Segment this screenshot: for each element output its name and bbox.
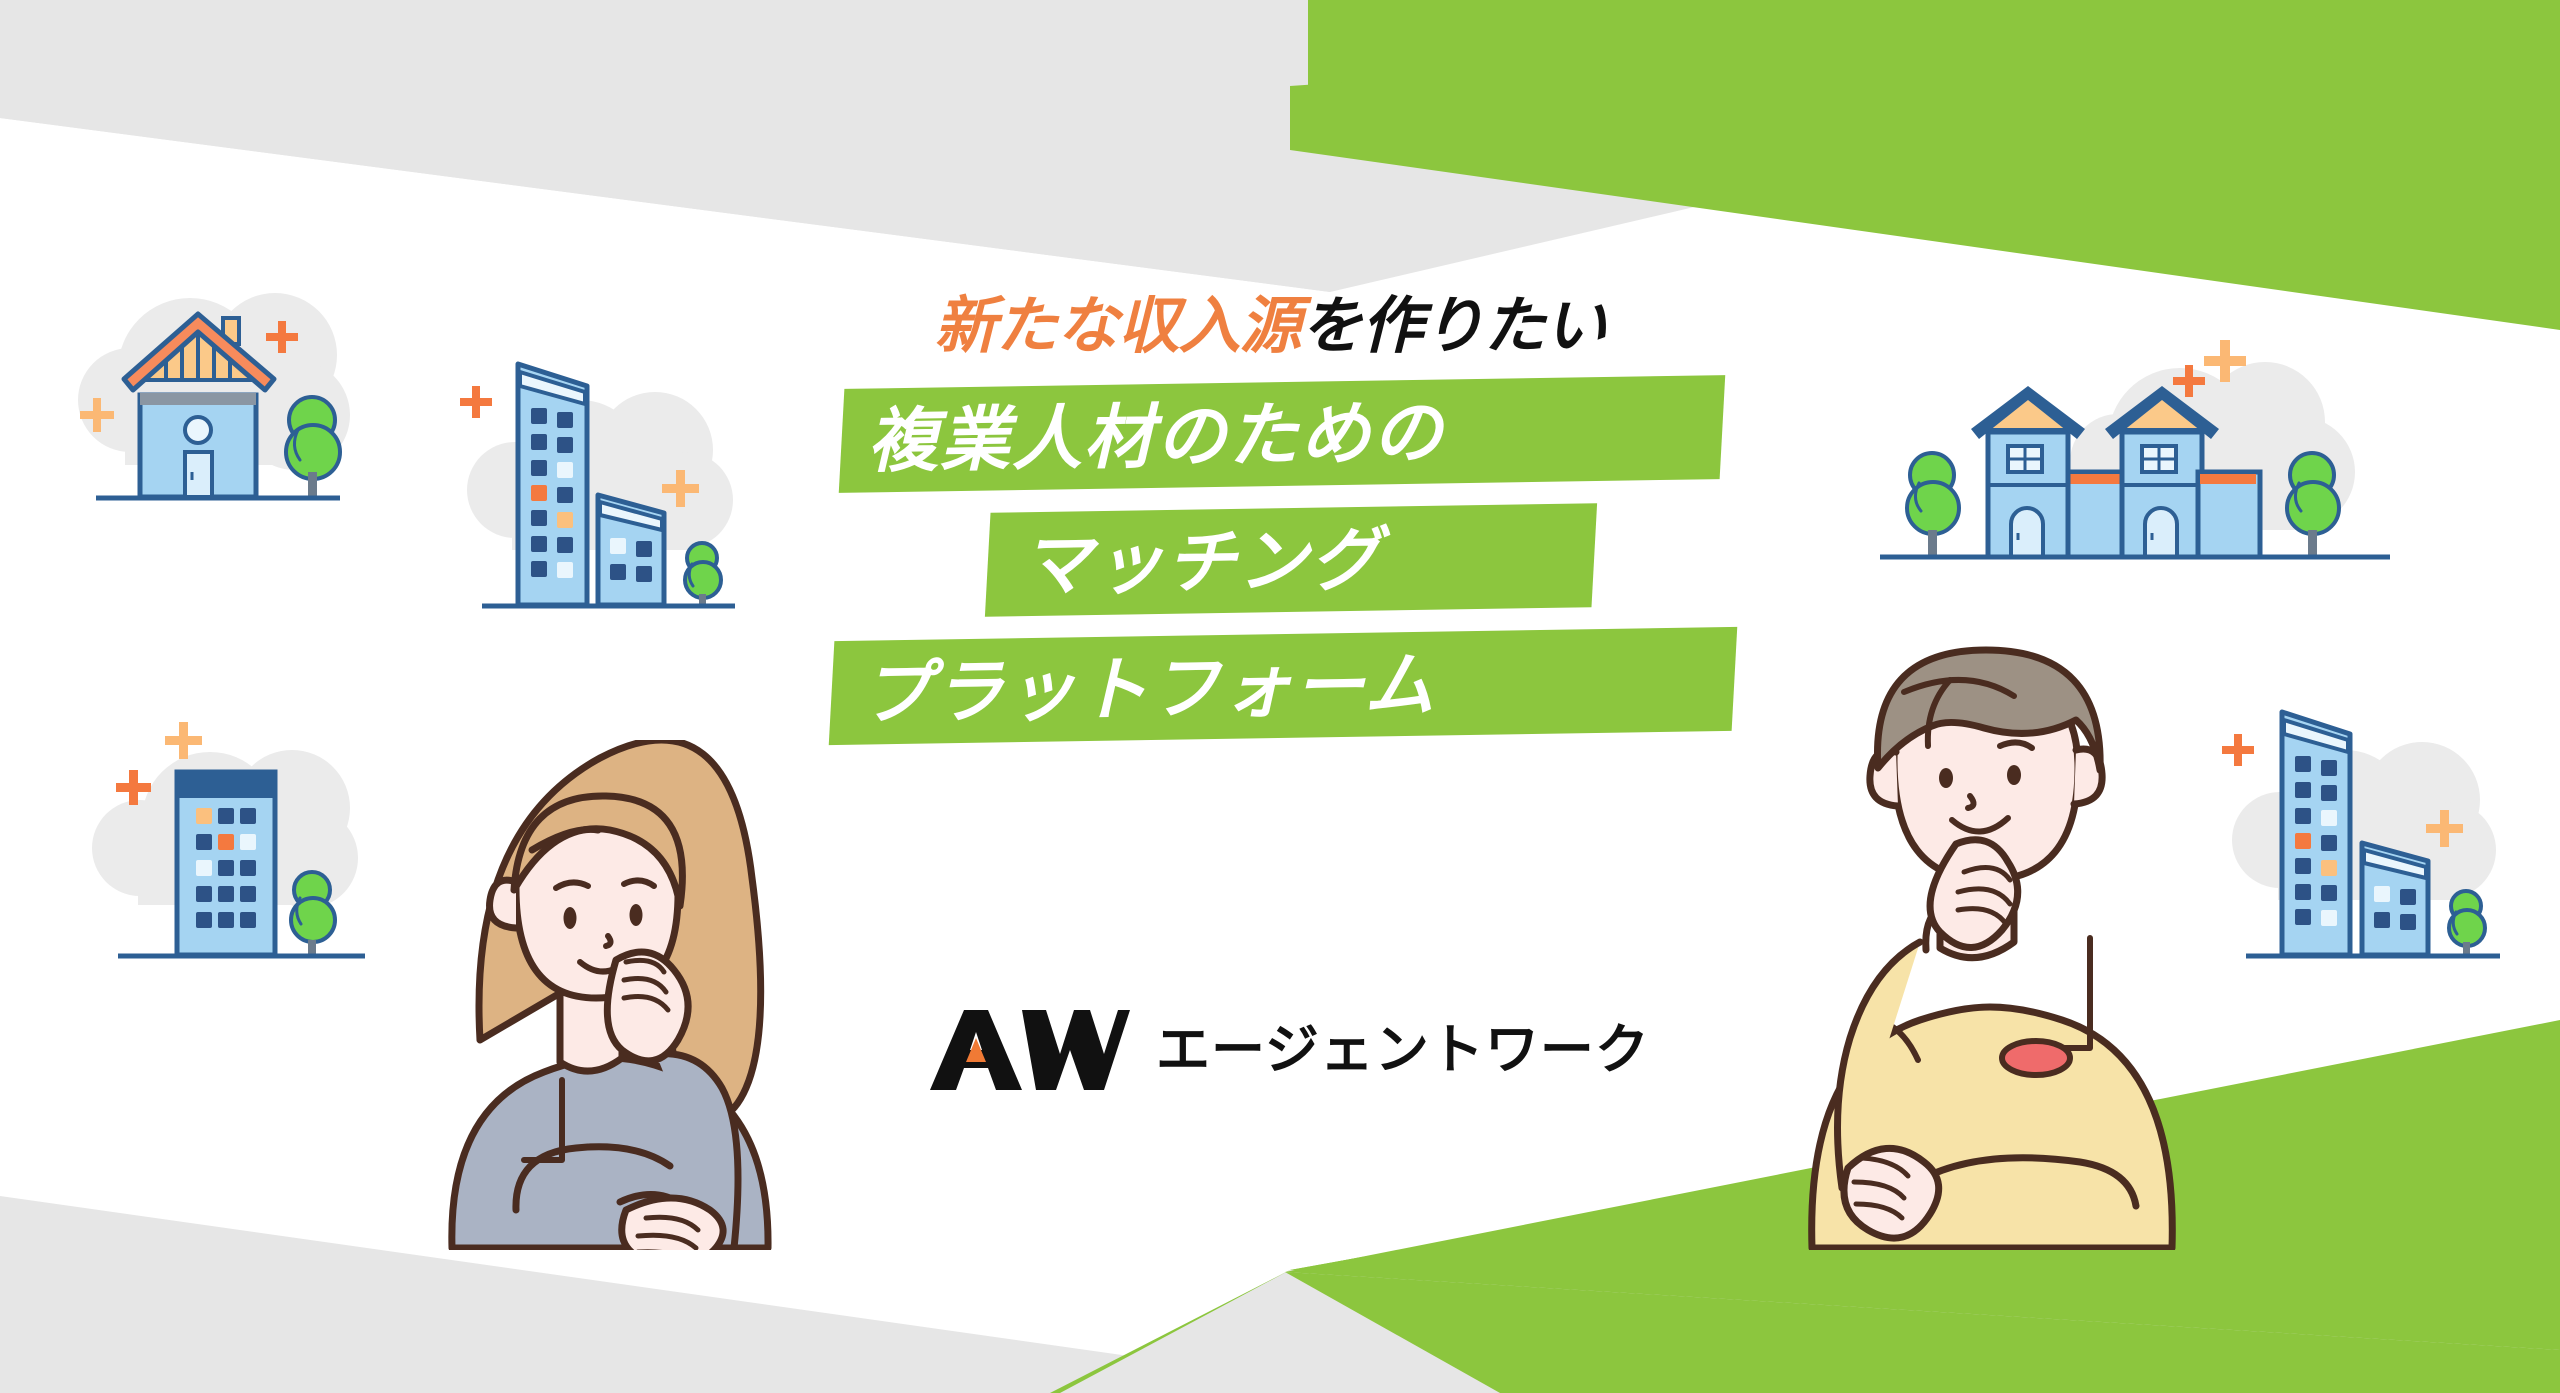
tree-left-icon <box>1907 453 1959 556</box>
banner-line-1-text: 複業人材のための <box>867 393 1723 476</box>
tower-short-icon <box>598 495 664 605</box>
illustration-townhouses-right <box>1880 330 2425 580</box>
house-extension <box>2198 472 2260 557</box>
logo-wordmark: エージェントワーク <box>1156 1023 1650 1077</box>
badge-icon <box>2002 1041 2070 1075</box>
logo-letter-w <box>1022 1010 1130 1090</box>
banner-line-1: 複業人材のための <box>839 375 1725 493</box>
tree-icon <box>685 543 721 608</box>
person-woman-illustration <box>420 740 780 1250</box>
aw-logo-mark <box>930 1010 1130 1090</box>
illustration-towers-right <box>2190 700 2520 970</box>
hand-lower <box>622 1198 723 1250</box>
kicker-rest: を作りたい <box>1301 292 1606 361</box>
hero-banner: 新たな収入源を作りたい 複業人材のための マッチング プラットフォーム エージェ… <box>0 0 2560 1393</box>
tower-tall-icon <box>2282 712 2350 955</box>
banner-line-2-text: マッチング <box>1021 521 1595 600</box>
tree-right-icon <box>2287 453 2339 556</box>
kicker-highlight: 新たな収入源 <box>934 292 1300 361</box>
tower-icon <box>177 772 275 955</box>
tower-short-icon <box>2362 843 2428 955</box>
kicker-line: 新たな収入源を作りたい <box>860 296 1680 358</box>
banner-line-3-text: プラットフォーム <box>861 645 1735 729</box>
banner-line-3: プラットフォーム <box>829 627 1738 745</box>
banner-line-2: マッチング <box>985 503 1597 617</box>
tower-tall-icon <box>518 364 587 605</box>
hand-chin <box>607 952 688 1061</box>
headline-block: 新たな収入源を作りたい 複業人材のための マッチング プラットフォーム <box>860 296 1680 738</box>
plus-icon-orange <box>460 386 492 418</box>
illustration-tower-lower-left <box>60 700 395 965</box>
tree-icon <box>291 872 335 957</box>
illustration-towers-left <box>430 350 760 620</box>
house-left-icon <box>1971 386 2085 557</box>
person-man-illustration <box>1800 620 2200 1250</box>
illustration-house-left <box>40 280 400 540</box>
tree-icon <box>2449 891 2485 956</box>
tree-icon <box>286 397 340 498</box>
brand-logo: エージェントワーク <box>930 1010 1650 1090</box>
plus-icon-orange <box>2222 734 2254 766</box>
